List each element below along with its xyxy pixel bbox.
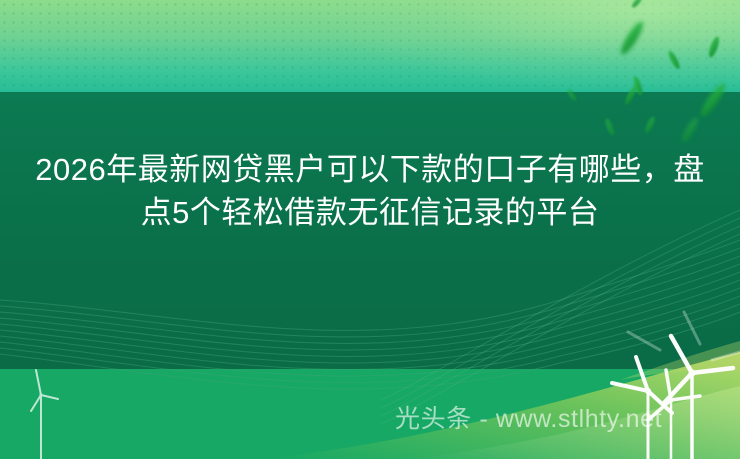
page-title: 2026年最新网贷黑户可以下款的口子有哪些，盘点5个轻松借款无征信记录的平台 bbox=[0, 148, 740, 234]
watermark-label: 光头条 - www.stlhty.net bbox=[395, 404, 662, 434]
background-band-top bbox=[0, 0, 740, 92]
promo-banner: 2026年最新网贷黑户可以下款的口子有哪些，盘点5个轻松借款无征信记录的平台 光… bbox=[0, 0, 740, 459]
